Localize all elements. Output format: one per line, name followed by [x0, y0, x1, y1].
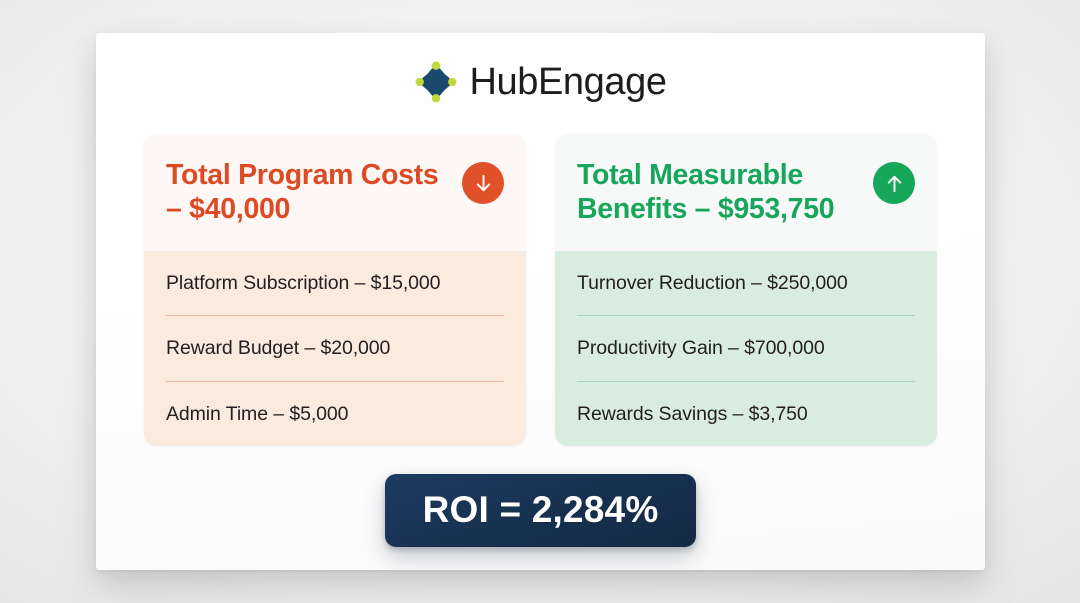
costs-card: Total Program Costs – $40,000 Platform S… — [144, 134, 526, 446]
list-item: Rewards Savings – $3,750 — [577, 381, 915, 446]
list-item: Platform Subscription – $15,000 — [166, 251, 504, 315]
roi-result-row: ROI = 2,284% — [96, 474, 985, 547]
comparison-columns: Total Program Costs – $40,000 Platform S… — [144, 134, 937, 446]
benefits-card-title: Total Measurable Benefits – $953,750 — [577, 159, 863, 227]
list-item: Admin Time – $5,000 — [166, 381, 504, 446]
benefits-card-header: Total Measurable Benefits – $953,750 — [555, 134, 937, 251]
benefits-card: Total Measurable Benefits – $953,750 Tur… — [555, 134, 937, 446]
roi-summary-panel: HubEngage Total Program Costs – $40,000 … — [96, 33, 985, 570]
benefits-card-items: Turnover Reduction – $250,000 Productivi… — [555, 251, 937, 446]
arrow-up-circle-icon — [873, 162, 915, 204]
list-item: Productivity Gain – $700,000 — [577, 315, 915, 380]
hubengage-star-logo-icon — [414, 60, 458, 104]
arrow-down-circle-icon — [462, 162, 504, 204]
list-item: Reward Budget – $20,000 — [166, 315, 504, 380]
costs-card-header: Total Program Costs – $40,000 — [144, 134, 526, 251]
list-item: Turnover Reduction – $250,000 — [577, 251, 915, 315]
costs-card-items: Platform Subscription – $15,000 Reward B… — [144, 251, 526, 446]
costs-card-title: Total Program Costs – $40,000 — [166, 159, 452, 227]
brand-lockup: HubEngage — [96, 60, 985, 104]
brand-name: HubEngage — [469, 63, 666, 101]
slide-background: HubEngage Total Program Costs – $40,000 … — [0, 0, 1080, 603]
roi-badge: ROI = 2,284% — [385, 474, 697, 547]
